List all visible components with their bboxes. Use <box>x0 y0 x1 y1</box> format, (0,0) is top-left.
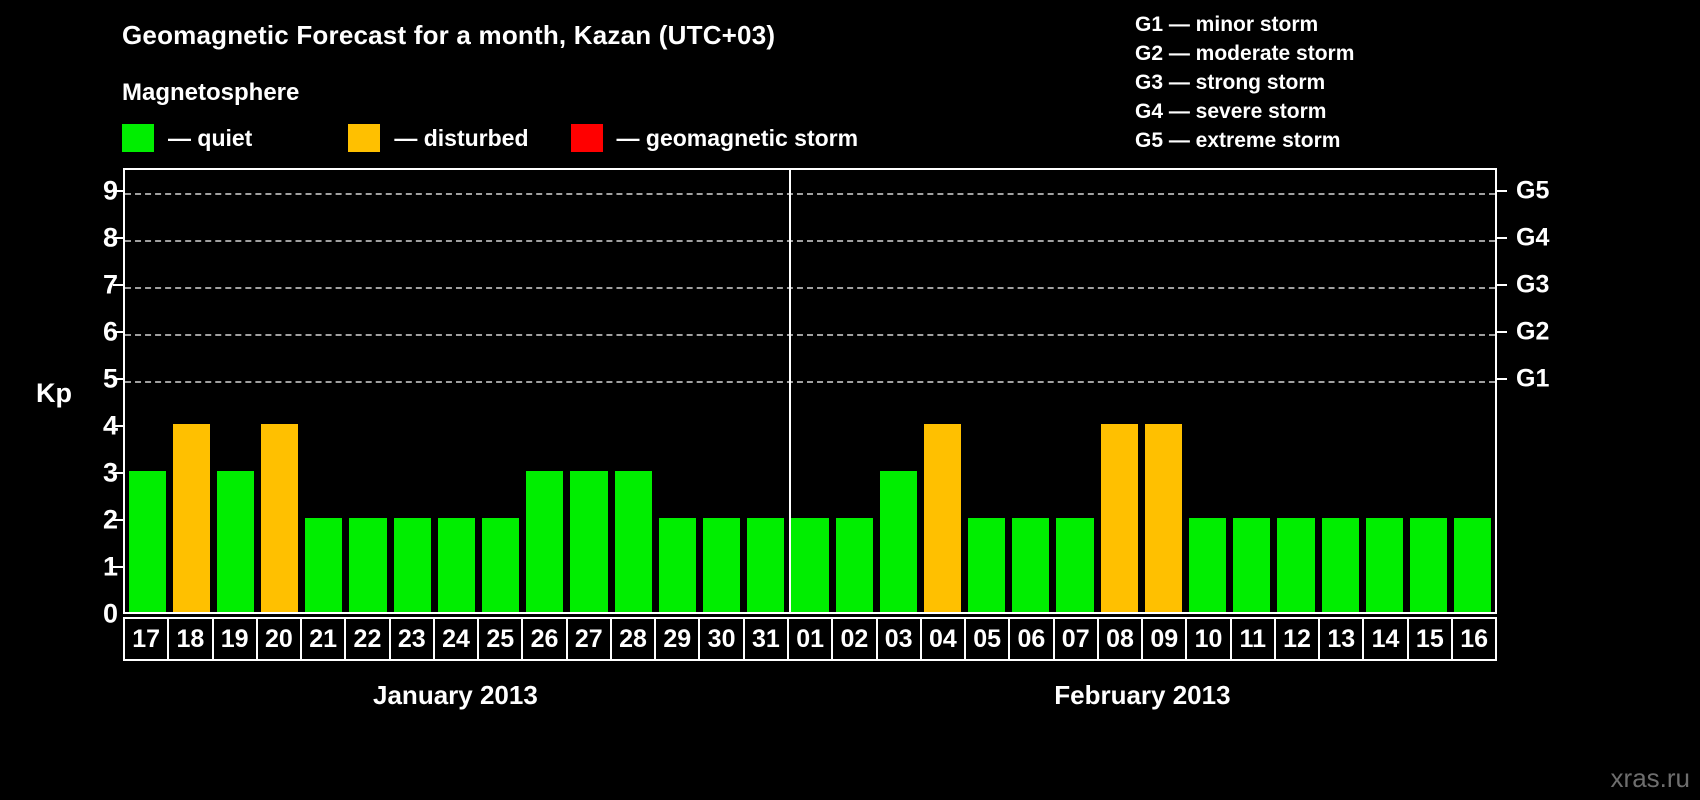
y-tick-label: 5 <box>78 364 118 395</box>
kp-bar[interactable] <box>747 518 784 612</box>
month-label: February 2013 <box>788 680 1497 711</box>
date-label: 12 <box>1283 627 1311 652</box>
date-label: 11 <box>1240 627 1266 652</box>
bar-cell[interactable] <box>567 170 611 612</box>
bar-cell[interactable] <box>1230 170 1274 612</box>
date-cell[interactable]: 14 <box>1362 617 1408 661</box>
bar-cell[interactable] <box>258 170 302 612</box>
kp-bar[interactable] <box>349 518 386 612</box>
kp-bar[interactable] <box>924 424 961 612</box>
kp-bar[interactable] <box>1145 424 1182 612</box>
gscale-row: G3 — strong storm <box>1135 68 1354 97</box>
bar-cell[interactable] <box>788 170 832 612</box>
kp-bar[interactable] <box>129 471 166 612</box>
kp-bar[interactable] <box>570 471 607 612</box>
magnetosphere-legend: — quiet— disturbed— geomagnetic storm <box>122 123 858 153</box>
date-cell[interactable]: 19 <box>212 617 258 661</box>
date-cell[interactable]: 15 <box>1407 617 1453 661</box>
kp-bar[interactable] <box>173 424 210 612</box>
bar-cell[interactable] <box>302 170 346 612</box>
g-tick-label: G4 <box>1516 224 1549 253</box>
kp-bar[interactable] <box>482 518 519 612</box>
date-label: 09 <box>1150 627 1178 652</box>
bar-cell[interactable] <box>1362 170 1406 612</box>
date-label: 10 <box>1195 627 1223 652</box>
plot-area <box>123 168 1497 614</box>
date-label: 07 <box>1062 627 1090 652</box>
y-axis-title: Kp <box>36 378 72 409</box>
date-cell[interactable]: 10 <box>1185 617 1231 661</box>
bar-cell[interactable] <box>920 170 964 612</box>
kp-bar[interactable] <box>791 518 828 612</box>
legend-entry: — quiet <box>122 123 252 153</box>
gscale-row: G1 — minor storm <box>1135 10 1354 39</box>
kp-bar[interactable] <box>1277 518 1314 612</box>
bars-layer <box>125 170 1495 612</box>
date-label: 05 <box>973 627 1001 652</box>
bar-cell[interactable] <box>523 170 567 612</box>
legend-entry: — disturbed <box>348 123 528 153</box>
gscale-row: G2 — moderate storm <box>1135 39 1354 68</box>
bar-cell[interactable] <box>1097 170 1141 612</box>
kp-bar[interactable] <box>1322 518 1359 612</box>
watermark: xras.ru <box>1611 763 1690 794</box>
bar-cell[interactable] <box>1274 170 1318 612</box>
bar-cell[interactable] <box>1451 170 1495 612</box>
date-label: 31 <box>752 627 780 652</box>
date-label: 13 <box>1327 627 1355 652</box>
date-cell[interactable]: 30 <box>698 617 744 661</box>
kp-bar[interactable] <box>1410 518 1447 612</box>
bar-cell[interactable] <box>434 170 478 612</box>
bar-cell[interactable] <box>832 170 876 612</box>
y-tick-label: 6 <box>78 317 118 348</box>
date-label: 30 <box>708 627 736 652</box>
bar-cell[interactable] <box>744 170 788 612</box>
date-label: 25 <box>486 627 514 652</box>
gscale-row: G4 — severe storm <box>1135 97 1354 126</box>
g-tick-label: G1 <box>1516 365 1549 394</box>
date-label: 16 <box>1460 627 1488 652</box>
disturbed-swatch <box>348 124 380 152</box>
kp-bar[interactable] <box>1233 518 1270 612</box>
date-label: 18 <box>176 627 204 652</box>
y-tick-label: 3 <box>78 458 118 489</box>
date-cell[interactable]: 20 <box>256 617 302 661</box>
date-axis: 1718192021222324252627282930310102030405… <box>123 617 1497 661</box>
g-tick-label: G2 <box>1516 318 1549 347</box>
date-cell[interactable]: 02 <box>831 617 877 661</box>
y-tick-label: 9 <box>78 176 118 207</box>
month-divider <box>789 170 791 612</box>
date-cell[interactable]: 08 <box>1097 617 1143 661</box>
bar-cell[interactable] <box>699 170 743 612</box>
date-cell[interactable]: 05 <box>964 617 1010 661</box>
date-label: 28 <box>619 627 647 652</box>
date-cell[interactable]: 09 <box>1141 617 1187 661</box>
bar-cell[interactable] <box>213 170 257 612</box>
date-cell[interactable]: 29 <box>654 617 700 661</box>
date-label: 22 <box>354 627 382 652</box>
date-cell[interactable]: 16 <box>1451 617 1497 661</box>
bar-cell[interactable] <box>611 170 655 612</box>
bar-cell[interactable] <box>876 170 920 612</box>
kp-bar[interactable] <box>1366 518 1403 612</box>
bar-cell[interactable] <box>479 170 523 612</box>
kp-bar[interactable] <box>880 471 917 612</box>
date-label: 06 <box>1018 627 1046 652</box>
date-cell[interactable]: 04 <box>920 617 966 661</box>
date-label: 14 <box>1372 627 1400 652</box>
plot-inner <box>125 170 1495 612</box>
bar-cell[interactable] <box>1141 170 1185 612</box>
kp-bar[interactable] <box>836 518 873 612</box>
gscale-legend: G1 — minor stormG2 — moderate stormG3 — … <box>1135 10 1354 155</box>
date-label: 15 <box>1416 627 1444 652</box>
kp-bar[interactable] <box>305 518 342 612</box>
date-label: 04 <box>929 627 957 652</box>
date-cell[interactable]: 31 <box>743 617 789 661</box>
kp-bar[interactable] <box>1012 518 1049 612</box>
date-label: 20 <box>265 627 293 652</box>
date-cell[interactable]: 28 <box>610 617 656 661</box>
date-label: 01 <box>796 627 824 652</box>
date-label: 02 <box>840 627 868 652</box>
date-cell[interactable]: 12 <box>1274 617 1320 661</box>
date-label: 17 <box>132 627 160 652</box>
date-cell[interactable]: 17 <box>123 617 169 661</box>
legend-label: — disturbed <box>394 125 528 152</box>
kp-bar[interactable] <box>703 518 740 612</box>
date-cell[interactable]: 03 <box>876 617 922 661</box>
y-tick-label: 2 <box>78 505 118 536</box>
kp-bar[interactable] <box>1056 518 1093 612</box>
gscale-row: G5 — extreme storm <box>1135 126 1354 155</box>
date-cell[interactable]: 07 <box>1053 617 1099 661</box>
date-label: 08 <box>1106 627 1134 652</box>
kp-bar[interactable] <box>615 471 652 612</box>
y-tick-label: 0 <box>78 599 118 630</box>
date-cell[interactable]: 26 <box>521 617 567 661</box>
y-tick-label: 7 <box>78 270 118 301</box>
date-cell[interactable]: 06 <box>1008 617 1054 661</box>
date-label: 23 <box>398 627 426 652</box>
month-label: January 2013 <box>123 680 788 711</box>
g-tick-label: G3 <box>1516 271 1549 300</box>
date-label: 19 <box>221 627 249 652</box>
date-label: 29 <box>663 627 691 652</box>
bar-cell[interactable] <box>655 170 699 612</box>
y-tick-label: 1 <box>78 552 118 583</box>
bar-cell[interactable] <box>1318 170 1362 612</box>
kp-bar[interactable] <box>1101 424 1138 612</box>
y-tick-label: 8 <box>78 223 118 254</box>
y-tick-label: 4 <box>78 411 118 442</box>
bar-cell[interactable] <box>1186 170 1230 612</box>
date-cell[interactable]: 13 <box>1318 617 1364 661</box>
bar-cell[interactable] <box>1009 170 1053 612</box>
bar-cell[interactable] <box>1406 170 1450 612</box>
kp-bar[interactable] <box>1454 518 1491 612</box>
bar-cell[interactable] <box>169 170 213 612</box>
page-title: Geomagnetic Forecast for a month, Kazan … <box>122 20 775 51</box>
magnetosphere-heading: Magnetosphere <box>122 79 299 107</box>
date-cell[interactable]: 27 <box>566 617 612 661</box>
date-cell[interactable]: 24 <box>433 617 479 661</box>
date-label: 27 <box>575 627 603 652</box>
storm-swatch <box>571 124 603 152</box>
date-cell[interactable]: 11 <box>1230 617 1276 661</box>
legend-label: — geomagnetic storm <box>617 125 859 152</box>
kp-bar[interactable] <box>438 518 475 612</box>
date-cell[interactable]: 01 <box>787 617 833 661</box>
bar-cell[interactable] <box>346 170 390 612</box>
date-label: 03 <box>885 627 913 652</box>
bar-cell[interactable] <box>1053 170 1097 612</box>
kp-bar[interactable] <box>1189 518 1226 612</box>
bar-cell[interactable] <box>125 170 169 612</box>
date-cell[interactable]: 23 <box>389 617 435 661</box>
date-cell[interactable]: 22 <box>344 617 390 661</box>
date-cell[interactable]: 18 <box>167 617 213 661</box>
g-tick-label: G5 <box>1516 177 1549 206</box>
kp-bar[interactable] <box>659 518 696 612</box>
kp-bar[interactable] <box>394 518 431 612</box>
date-label: 24 <box>442 627 470 652</box>
date-label: 26 <box>531 627 559 652</box>
kp-bar[interactable] <box>217 471 254 612</box>
date-label: 21 <box>309 627 337 652</box>
bar-cell[interactable] <box>390 170 434 612</box>
kp-bar[interactable] <box>261 424 298 612</box>
date-cell[interactable]: 21 <box>300 617 346 661</box>
legend-entry: — geomagnetic storm <box>571 123 859 153</box>
quiet-swatch <box>122 124 154 152</box>
kp-bar[interactable] <box>968 518 1005 612</box>
legend-label: — quiet <box>168 125 252 152</box>
kp-bar[interactable] <box>526 471 563 612</box>
bar-cell[interactable] <box>965 170 1009 612</box>
date-cell[interactable]: 25 <box>477 617 523 661</box>
